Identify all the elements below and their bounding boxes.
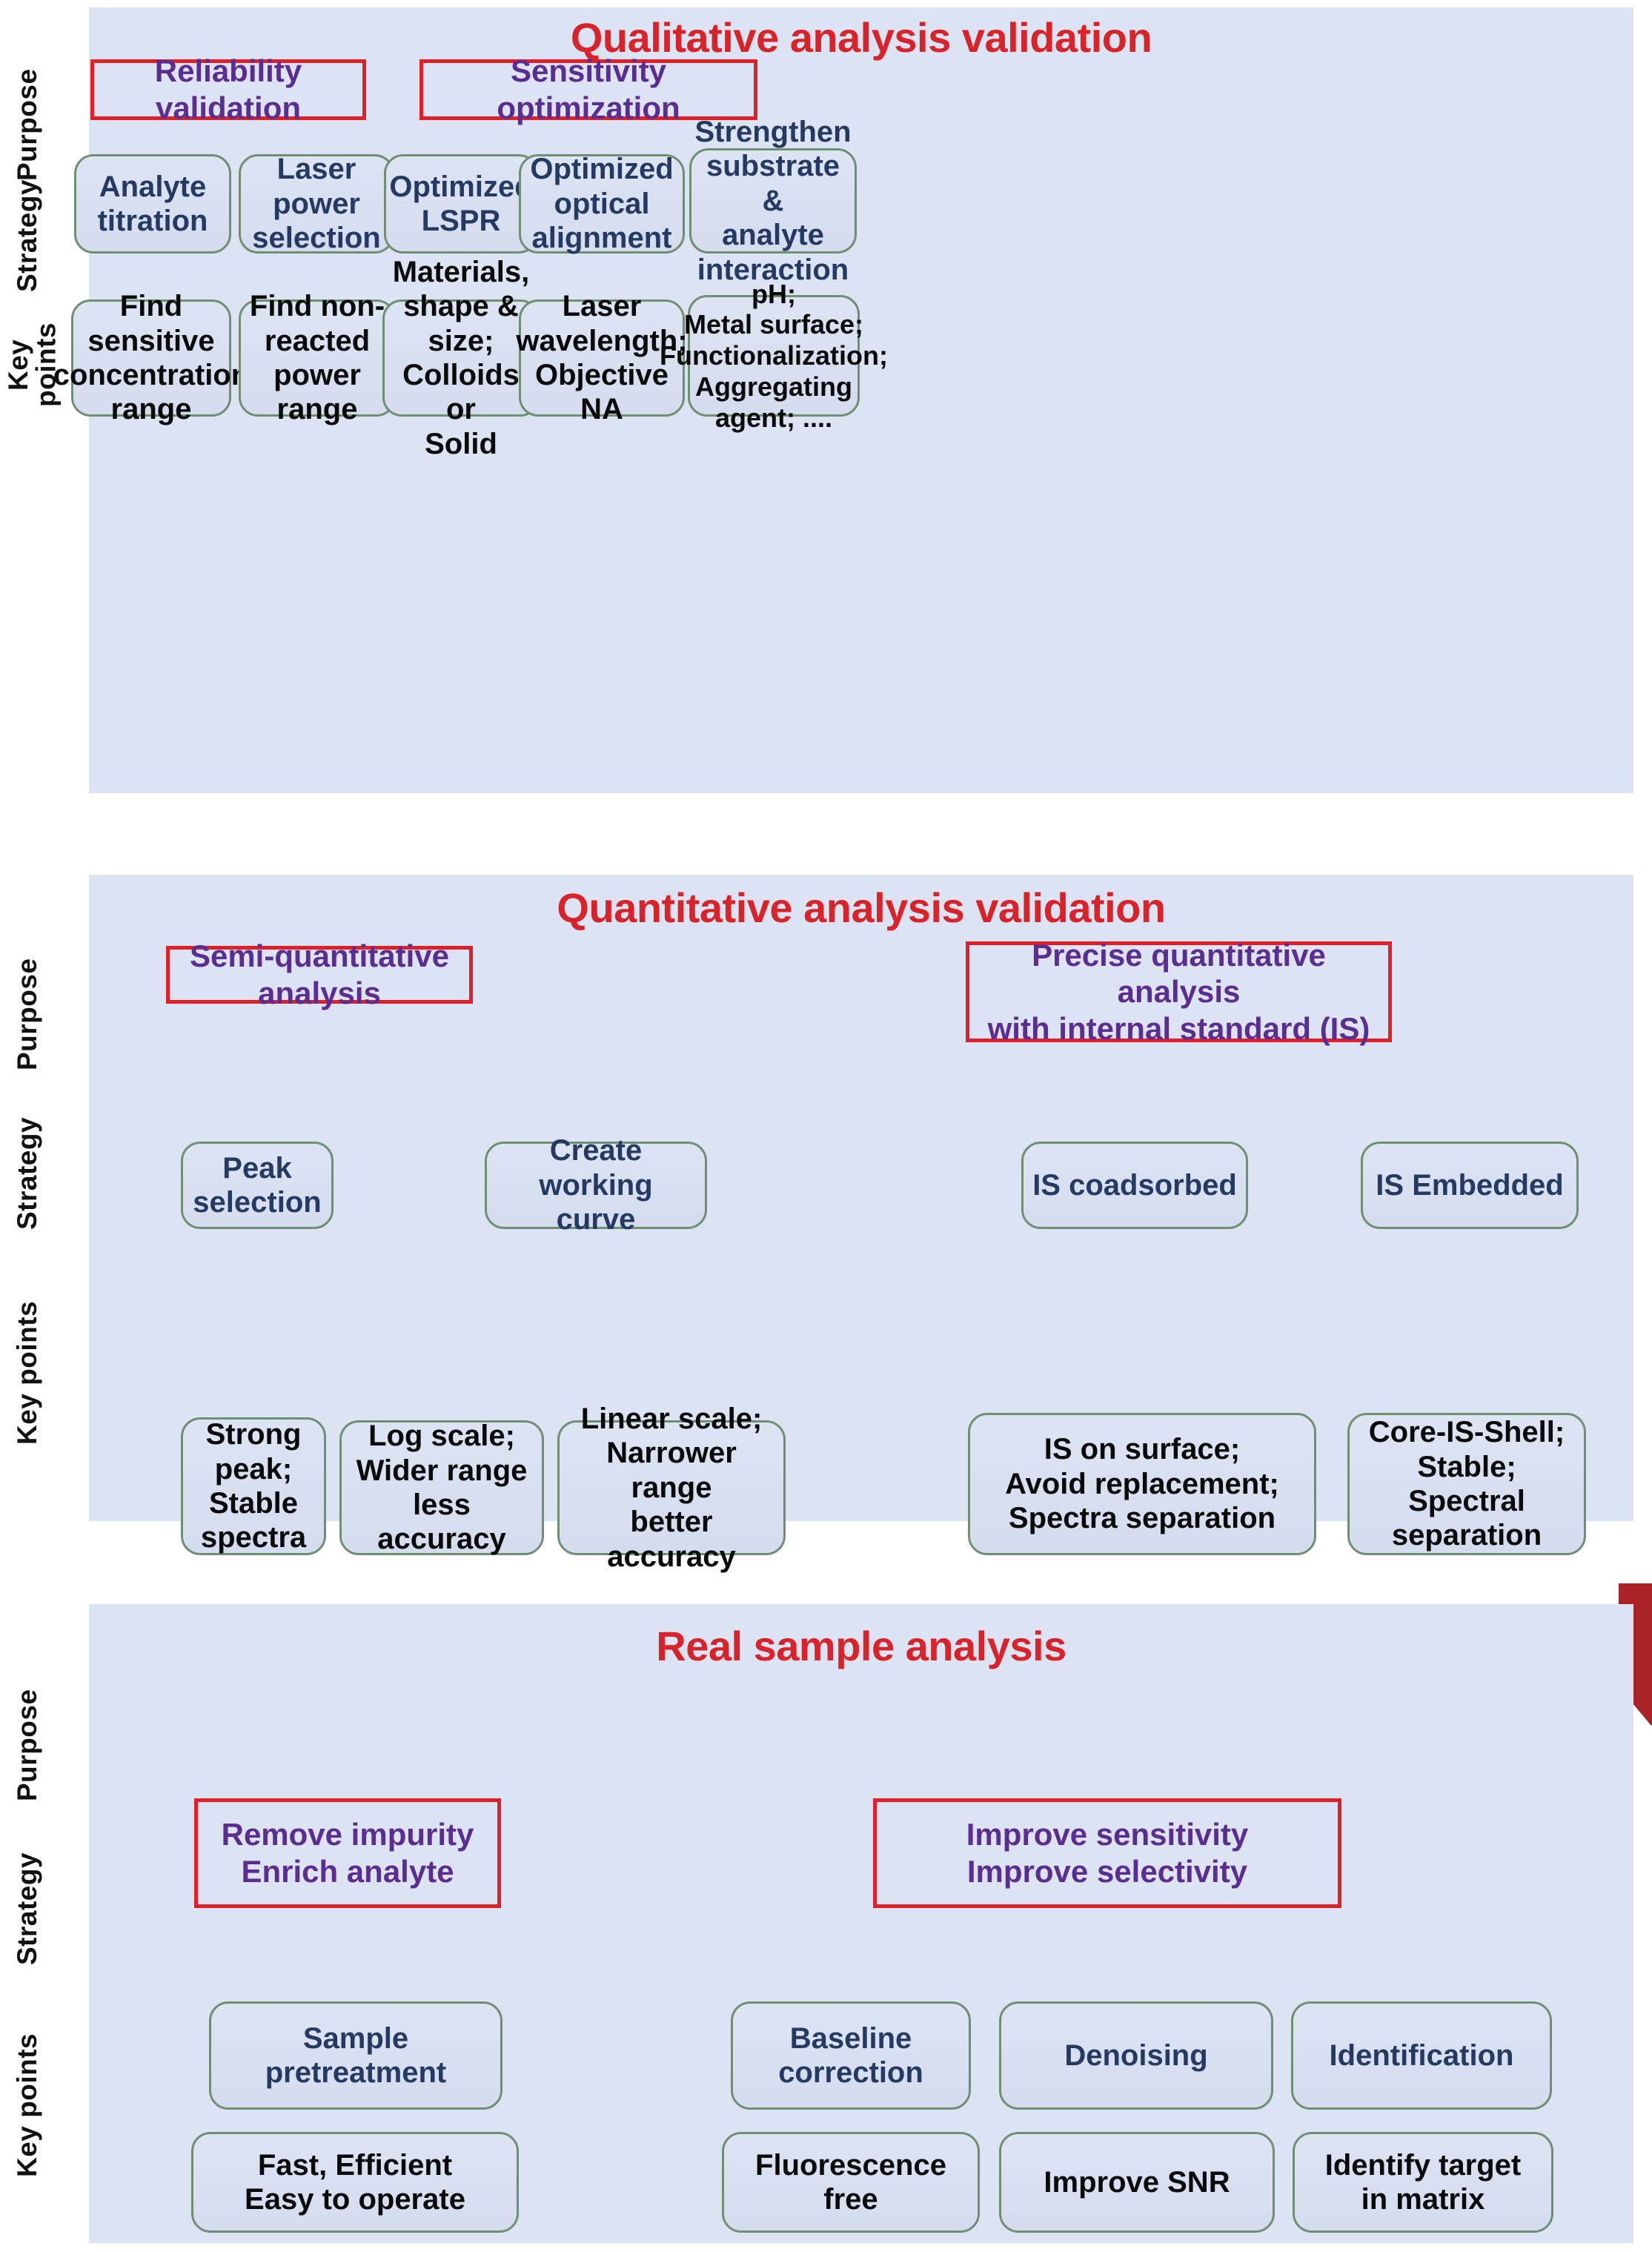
keypoint-box-core-is-shell[interactable]: Core-IS-Shell; Stable; Spectral separati…: [1347, 1413, 1586, 1555]
strategy-label: Sample pretreatment: [261, 2021, 451, 2090]
strategy-box-strengthen-substrate-analyte-interaction[interactable]: Strengthen substrate & analyte interacti…: [689, 148, 857, 254]
strategy-box-peak-selection[interactable]: Peak selection: [181, 1142, 334, 1229]
strategy-label: IS coadsorbed: [1028, 1168, 1241, 1202]
keypoint-box-ph-metal-surface[interactable]: pH; Metal surface; Functionalization; Ag…: [688, 295, 860, 417]
rowlabel-keypoints-3: Key points: [13, 2001, 58, 2209]
strategy-label: Laser power selection: [248, 152, 385, 255]
strategy-label: Optimized LSPR: [385, 170, 537, 239]
strategy-label: IS Embedded: [1371, 1168, 1568, 1202]
keypoint-label: Linear scale; Narrower range better accu…: [560, 1402, 783, 1574]
keypoint-label: Improve SNR: [1039, 2165, 1234, 2199]
purpose-label: Remove impurity Enrich analyte: [222, 1816, 474, 1890]
strategy-box-is-coadsorbed[interactable]: IS coadsorbed: [1021, 1142, 1248, 1229]
strategy-label: Baseline correction: [774, 2021, 928, 2090]
rowlabel-strategy-3: Strategy: [13, 1831, 58, 1987]
keypoint-label: Find non- reacted power range: [241, 289, 394, 427]
keypoint-box-find-sensitive-range[interactable]: Find sensitive concentration range: [71, 299, 231, 417]
strategy-box-identification[interactable]: Identification: [1291, 2001, 1552, 2110]
strategy-label: Create working curve: [487, 1133, 705, 1236]
keypoint-label: Identify target in matrix: [1321, 2148, 1525, 2217]
keypoint-box-linear-scale[interactable]: Linear scale; Narrower range better accu…: [557, 1420, 786, 1555]
rowlabel-purpose-3: Purpose: [13, 1671, 58, 1819]
keypoint-label: Log scale; Wider range less accuracy: [342, 1419, 542, 1557]
purpose-box-semi-quantitative-analysis[interactable]: Semi-quantitative analysis: [166, 946, 473, 1004]
strategy-box-optimized-lspr[interactable]: Optimized LSPR: [384, 154, 538, 254]
strategy-label: Optimized optical alignment: [525, 152, 677, 255]
strategy-label: Denoising: [1060, 2039, 1212, 2073]
keypoint-box-log-scale[interactable]: Log scale; Wider range less accuracy: [339, 1420, 544, 1555]
strategy-box-baseline-correction[interactable]: Baseline correction: [731, 2001, 971, 2110]
keypoint-box-is-on-surface[interactable]: IS on surface; Avoid replacement; Spectr…: [968, 1413, 1316, 1555]
strategy-box-denoising[interactable]: Denoising: [999, 2001, 1273, 2110]
strategy-box-is-embedded[interactable]: IS Embedded: [1361, 1142, 1579, 1229]
strategy-box-analyte-titration[interactable]: Analyte titration: [74, 154, 231, 254]
strategy-box-sample-pretreatment[interactable]: Sample pretreatment: [209, 2001, 502, 2110]
keypoint-box-identify-target-in-matrix[interactable]: Identify target in matrix: [1293, 2132, 1553, 2233]
keypoint-box-strong-peak-stable-spectra[interactable]: Strong peak; Stable spectra: [181, 1417, 326, 1555]
strategy-label: Strengthen substrate & analyte interacti…: [690, 115, 855, 287]
keypoint-label: IS on surface; Avoid replacement; Spectr…: [1001, 1432, 1284, 1535]
purpose-label: Precise quantitative analysis with inter…: [969, 937, 1388, 1047]
section-title-real-sample: Real sample analysis: [89, 1622, 1633, 1670]
purpose-label: Improve sensitivity Improve selectivity: [966, 1816, 1248, 1890]
keypoint-label: Find sensitive concentration range: [49, 289, 253, 427]
purpose-box-sensitivity-optimization[interactable]: Sensitivity optimization: [419, 59, 757, 120]
strategy-box-laser-power-selection[interactable]: Laser power selection: [239, 154, 394, 254]
purpose-box-precise-quantitative-analysis[interactable]: Precise quantitative analysis with inter…: [966, 941, 1392, 1042]
rowlabel-keypoints-2: Key points: [13, 1269, 58, 1477]
keypoint-box-find-non-reacted-power[interactable]: Find non- reacted power range: [239, 299, 396, 417]
strategy-box-create-working-curve[interactable]: Create working curve: [485, 1142, 707, 1229]
keypoint-box-fast-efficient[interactable]: Fast, Efficient Easy to operate: [191, 2132, 519, 2233]
rowlabel-purpose-2: Purpose: [13, 940, 58, 1088]
rowlabel-strategy-2: Strategy: [13, 1096, 58, 1251]
purpose-label: Reliability validation: [94, 53, 362, 126]
purpose-box-remove-impurity[interactable]: Remove impurity Enrich analyte: [194, 1798, 501, 1908]
strategy-label: Peak selection: [188, 1151, 325, 1220]
section-title-quantitative: Quantitative analysis validation: [89, 884, 1633, 932]
strategy-label: Analyte titration: [93, 170, 213, 239]
keypoint-label: pH; Metal surface; Functionalization; Ag…: [655, 279, 892, 434]
purpose-label: Semi-quantitative analysis: [170, 938, 469, 1011]
purpose-box-reliability-validation[interactable]: Reliability validation: [90, 59, 366, 120]
diagram-root: Qualitative analysis validation Purpose …: [0, 0, 1652, 2252]
keypoint-box-improve-snr[interactable]: Improve SNR: [999, 2132, 1275, 2233]
strategy-box-optimized-optical-alignment[interactable]: Optimized optical alignment: [519, 154, 685, 254]
keypoint-box-fluorescence-free[interactable]: Fluorescence free: [722, 2132, 980, 2233]
purpose-box-improve-sensitivity[interactable]: Improve sensitivity Improve selectivity: [873, 1798, 1341, 1908]
keypoint-label: Fast, Efficient Easy to operate: [240, 2148, 470, 2217]
strategy-label: Identification: [1325, 2039, 1519, 2073]
keypoint-label: Strong peak; Stable spectra: [196, 1417, 311, 1555]
keypoint-label: Fluorescence free: [751, 2148, 951, 2217]
keypoint-label: Core-IS-Shell; Stable; Spectral separati…: [1364, 1415, 1569, 1553]
